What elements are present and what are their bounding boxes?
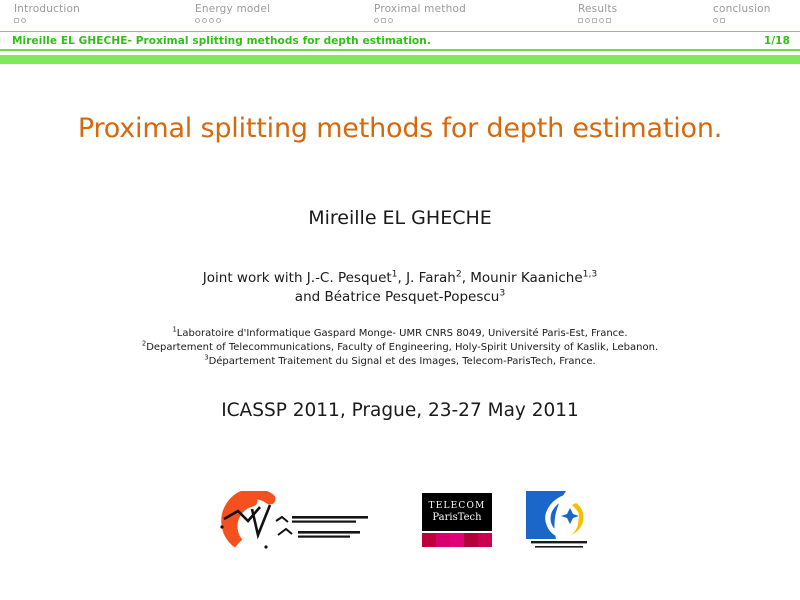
nav-dot[interactable] [381, 18, 386, 23]
telecom-paristech-line-1: TELECOM [429, 501, 486, 512]
usek-holy-spirit-university-logo [526, 491, 592, 553]
nav-section-label: Results [578, 3, 617, 16]
affiliation-text: Département Traitement du Signal et des … [209, 356, 596, 367]
nav-dot[interactable] [606, 18, 611, 23]
joint-work-text: Joint work with J.-C. Pesquet [203, 270, 392, 286]
nav-dot[interactable] [374, 18, 379, 23]
nav-dot[interactable] [195, 18, 200, 23]
header-divider-bottom [0, 49, 800, 51]
affiliation-item: 1Laboratoire d'Informatique Gaspard Mong… [0, 327, 800, 341]
nav-section-introduction[interactable]: Introduction [14, 3, 80, 23]
nav-dot[interactable] [585, 18, 590, 23]
affiliation-item: 3Département Traitement du Signal et des… [0, 355, 800, 369]
nav-section-label: Introduction [14, 3, 80, 16]
universite-paris-est-logo [208, 491, 388, 553]
nav-dot[interactable] [388, 18, 393, 23]
author-name: Mireille EL GHECHE [0, 206, 800, 230]
joint-work-credits: Joint work with J.-C. Pesquet1, J. Farah… [0, 269, 800, 307]
nav-dot[interactable] [713, 18, 718, 23]
swatch [436, 533, 450, 547]
conference-venue-date: ICASSP 2011, Prague, 23-27 May 2011 [0, 399, 800, 423]
telecom-paristech-logo: TELECOM ParisTech [422, 493, 492, 551]
swatch [464, 533, 478, 547]
nav-dot[interactable] [578, 18, 583, 23]
swatch [450, 533, 464, 547]
affiliation-text: Departement of Telecommunications, Facul… [146, 342, 658, 353]
telecom-paristech-color-swatches [422, 533, 492, 547]
nav-dot[interactable] [592, 18, 597, 23]
nav-section-energy-model[interactable]: Energy model [195, 3, 270, 23]
nav-dots-energy-model[interactable] [195, 18, 270, 23]
title-block: Proximal splitting methods for depth est… [0, 64, 800, 423]
nav-section-results[interactable]: Results [578, 3, 617, 23]
nav-dot[interactable] [599, 18, 604, 23]
nav-dot[interactable] [209, 18, 214, 23]
nav-section-proximal-method[interactable]: Proximal method [374, 3, 466, 23]
footline-bar: Mireille EL GHECHE- Proximal splitting m… [0, 32, 800, 49]
header-green-band [0, 55, 800, 64]
affiliation-text: Laboratoire d'Informatique Gaspard Monge… [177, 328, 628, 339]
joint-work-superscript: 3 [499, 288, 505, 299]
nav-dot[interactable] [720, 18, 725, 23]
joint-work-line-2: and Béatrice Pesquet-Popescu3 [0, 288, 800, 307]
nav-dots-results[interactable] [578, 18, 617, 23]
nav-dot[interactable] [14, 18, 19, 23]
footline-title: Mireille EL GHECHE- Proximal splitting m… [12, 35, 431, 47]
beamer-slide: Introduction Energy model Proximal metho… [0, 0, 800, 600]
nav-dots-conclusion[interactable] [713, 18, 771, 23]
page-title: Proximal splitting methods for depth est… [0, 112, 800, 146]
footline-page-number: 1/18 [764, 35, 790, 47]
nav-section-conclusion[interactable]: conclusion [713, 3, 771, 23]
joint-work-text: , J. Farah [398, 270, 456, 286]
nav-dots-proximal-method[interactable] [374, 18, 466, 23]
nav-section-label: Energy model [195, 3, 270, 16]
nav-dots-introduction[interactable] [14, 18, 80, 23]
joint-work-text: , Mounir Kaaniche [462, 270, 583, 286]
section-navigation-bar: Introduction Energy model Proximal metho… [0, 0, 800, 32]
affiliation-item: 2Departement of Telecommunications, Facu… [0, 341, 800, 355]
joint-work-text: and Béatrice Pesquet-Popescu [295, 289, 500, 305]
nav-dot[interactable] [216, 18, 221, 23]
telecom-paristech-line-2: ParisTech [432, 512, 481, 523]
nav-dot[interactable] [202, 18, 207, 23]
nav-section-label: conclusion [713, 3, 771, 16]
swatch [478, 533, 492, 547]
logo-strip: TELECOM ParisTech [0, 482, 800, 562]
telecom-paristech-wordmark: TELECOM ParisTech [422, 493, 492, 531]
nav-dot[interactable] [21, 18, 26, 23]
affiliations-list: 1Laboratoire d'Informatique Gaspard Mong… [0, 327, 800, 369]
nav-section-label: Proximal method [374, 3, 466, 16]
swatch [422, 533, 436, 547]
joint-work-superscript: 1,3 [583, 269, 598, 280]
